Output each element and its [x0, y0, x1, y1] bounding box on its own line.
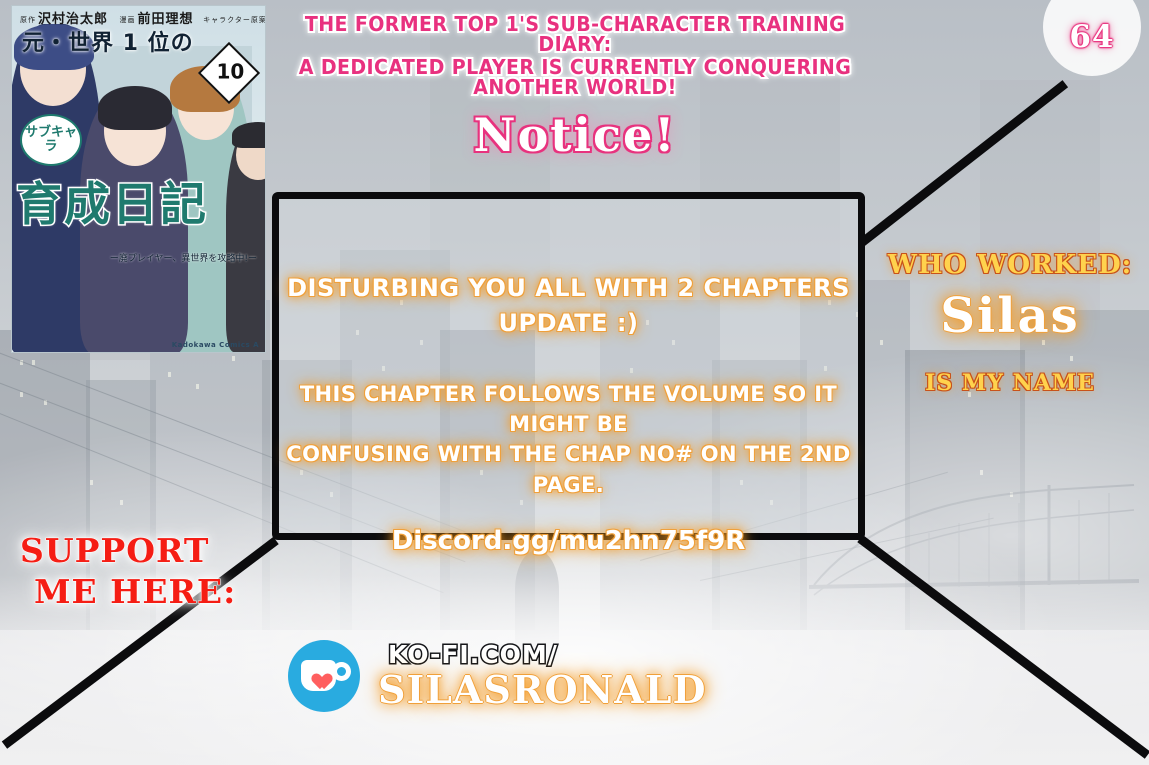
- support-line-2: me here:: [34, 571, 260, 612]
- cover-volume-number: 10: [210, 54, 250, 90]
- notice-message-line-4: confusing with the chap no# on the 2nd p…: [279, 439, 858, 500]
- notice-heading: Notice!: [270, 108, 880, 162]
- cover-subcharacter-bubble: サブキャラ: [20, 114, 82, 166]
- notice-message-line-1: Disturbing you all with 2 chapters: [279, 271, 858, 306]
- kofi-cup-heart-icon[interactable]: [288, 640, 360, 712]
- cover-publisher: Kadokawa Comics A: [172, 341, 259, 349]
- cover-subtitle: ー廃プレイヤー、異世界を攻略中!ー: [110, 251, 257, 264]
- discord-link[interactable]: Discord.gg/mu2hn75f9R: [279, 526, 858, 556]
- notice-box: Disturbing you all with 2 chapters updat…: [272, 192, 865, 540]
- kofi-handle-shape: [332, 662, 351, 681]
- credits-label: Who worked:: [872, 250, 1148, 280]
- credits-name: Silas: [872, 288, 1148, 344]
- series-title: The former top 1's sub-character trainin…: [270, 14, 880, 100]
- cover-artist-label: 漫画: [120, 16, 136, 24]
- cover-title-main: 育成日記: [16, 168, 208, 234]
- chapter-number: 64: [1069, 19, 1114, 55]
- credits-tagline: is my name: [872, 370, 1148, 396]
- support-block: Support me here:: [20, 530, 260, 613]
- heart-icon: [308, 667, 327, 684]
- cover-author-label: 原作: [20, 16, 36, 24]
- notice-message-line-3: This chapter follows the volume so it mi…: [279, 379, 858, 440]
- kofi-username[interactable]: Silasronald: [378, 667, 706, 712]
- kofi-text: Ko-fi.com/ Silasronald: [378, 640, 706, 712]
- manga-cover-thumbnail[interactable]: 原作沢村治太郎 漫画前田理想 キャラクター原案 元・世界 1 位の 10 サブキ…: [11, 5, 266, 353]
- chapter-notice-page: 64 原作沢村治太郎 漫画前田理想 キャラクター原案 元・世界 1 位の 10 …: [0, 0, 1149, 765]
- credits-block: Who worked: Silas is my name: [872, 250, 1148, 396]
- series-title-line-1: The former top 1's sub-character trainin…: [285, 14, 865, 54]
- kofi-block[interactable]: Ko-fi.com/ Silasronald: [288, 640, 706, 712]
- notice-body: Disturbing you all with 2 chapters updat…: [279, 271, 858, 556]
- series-title-line-2: A dedicated player is currently conqueri…: [285, 57, 865, 97]
- notice-message-line-2: update :): [279, 306, 858, 341]
- cover-character-4: [226, 124, 266, 352]
- support-line-1: Support: [20, 530, 260, 571]
- cover-design-label: キャラクター原案: [203, 16, 266, 24]
- kofi-domain[interactable]: Ko-fi.com/: [388, 640, 558, 669]
